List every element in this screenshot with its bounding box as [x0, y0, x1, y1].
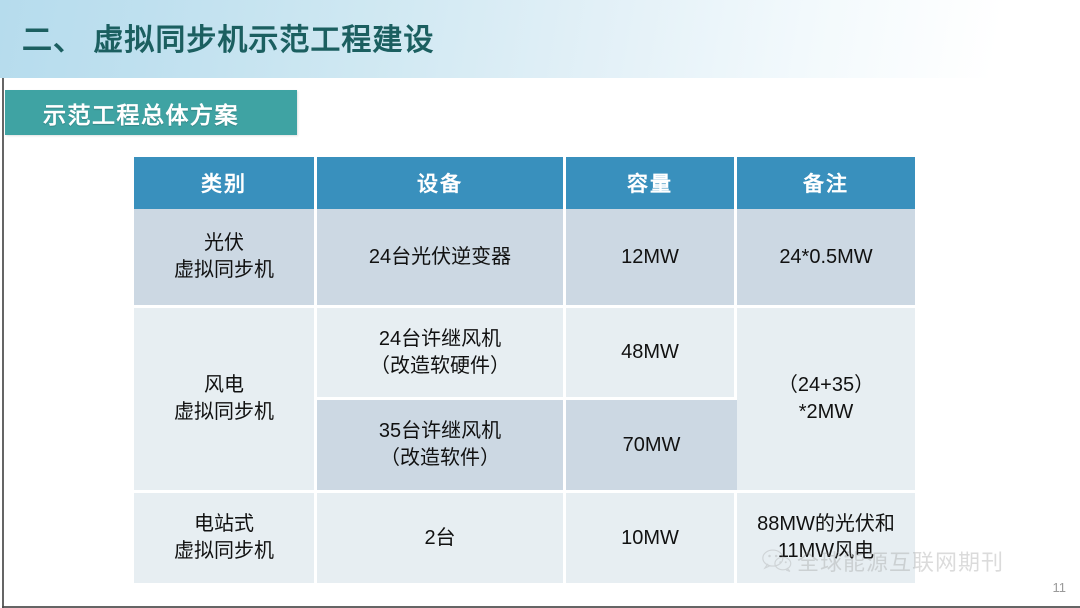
category-line-2: 虚拟同步机: [174, 540, 274, 562]
cell-device: 24台光伏逆变器: [317, 209, 566, 308]
remark-line-1: （24+35）: [778, 374, 874, 396]
category-line-2: 虚拟同步机: [174, 259, 274, 281]
page-number: 11: [1053, 580, 1067, 595]
device-line-1: 24台光伏逆变器: [369, 246, 511, 268]
watermark: 全球能源互联网期刊: [762, 545, 1004, 577]
table-header-row: 类别 设备 容量 备注: [134, 157, 915, 209]
device-line-2: （改造软硬件）: [370, 355, 510, 377]
left-border-rule: [2, 78, 4, 608]
cell-remark: 24*0.5MW: [737, 209, 915, 308]
table-row: 光伏 虚拟同步机 24台光伏逆变器 12MW 24*0.5MW: [134, 209, 915, 308]
cell-remark: （24+35） *2MW: [737, 308, 915, 493]
cell-capacity: 48MW: [566, 308, 737, 400]
section-banner-label: 示范工程总体方案: [43, 96, 239, 130]
column-header-remark: 备注: [737, 157, 915, 209]
slide-header-band: 二、 虚拟同步机示范工程建设: [0, 0, 1080, 78]
cell-category: 光伏 虚拟同步机: [134, 209, 317, 308]
device-line-1: 2台: [424, 527, 455, 549]
remark-line-1: 24*0.5MW: [779, 246, 872, 268]
cell-device: 35台许继风机 （改造软件）: [317, 400, 566, 493]
category-line-1: 光伏: [204, 232, 244, 254]
device-line-1: 24台许继风机: [379, 328, 501, 350]
slide-canvas: 二、 虚拟同步机示范工程建设 示范工程总体方案 类别 设备 容量 备注 光伏 虚…: [0, 0, 1080, 608]
cell-capacity: 12MW: [566, 209, 737, 308]
watermark-label: 全球能源互联网期刊: [797, 545, 1004, 577]
category-line-1: 电站式: [194, 513, 254, 535]
column-header-device: 设备: [317, 157, 566, 209]
page-title: 二、 虚拟同步机示范工程建设: [22, 22, 434, 60]
device-line-1: 35台许继风机: [379, 420, 501, 442]
cell-category: 电站式 虚拟同步机: [134, 493, 317, 583]
column-header-category: 类别: [134, 157, 317, 209]
table-row: 风电 虚拟同步机 24台许继风机 （改造软硬件） 48MW （24+35） *2…: [134, 308, 915, 400]
cell-capacity: 70MW: [566, 400, 737, 493]
cell-category: 风电 虚拟同步机: [134, 308, 317, 493]
category-line-1: 风电: [204, 374, 244, 396]
device-line-2: （改造软件）: [380, 447, 500, 469]
section-banner: 示范工程总体方案: [5, 90, 297, 135]
category-line-2: 虚拟同步机: [174, 401, 274, 423]
wechat-icon: [762, 548, 792, 574]
cell-device: 24台许继风机 （改造软硬件）: [317, 308, 566, 400]
column-header-capacity: 容量: [566, 157, 737, 209]
remark-line-2: *2MW: [799, 401, 853, 423]
specification-table: 类别 设备 容量 备注 光伏 虚拟同步机 24台光伏逆变器 12MW 24*0.…: [134, 157, 915, 583]
cell-device: 2台: [317, 493, 566, 583]
remark-line-1: 88MW的光伏和: [757, 513, 895, 535]
cell-capacity: 10MW: [566, 493, 737, 583]
